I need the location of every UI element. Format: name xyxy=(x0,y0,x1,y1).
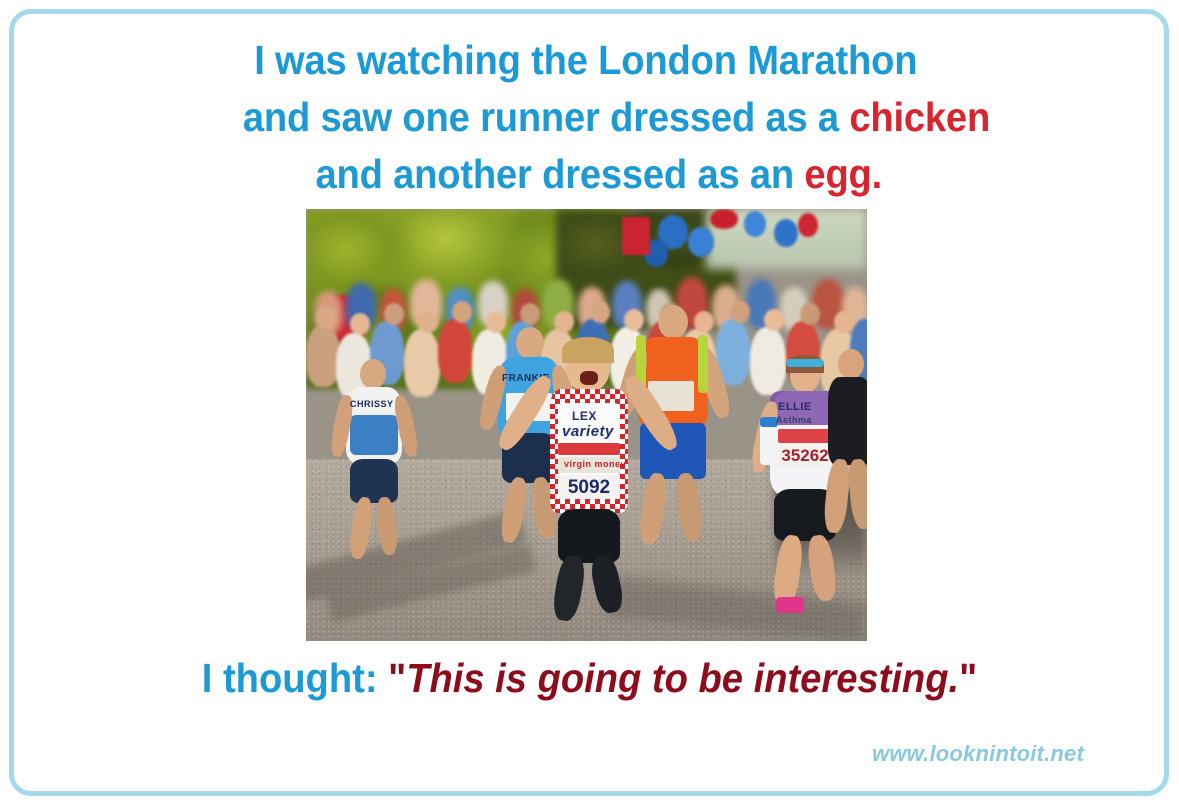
caption-line-1: I was watching the London Marathon xyxy=(41,32,1137,89)
top-caption-block: I was watching the London Marathon and s… xyxy=(0,32,1179,203)
backpack-strap-right xyxy=(698,335,708,393)
runner-far-right xyxy=(826,349,867,579)
runner-lex: LEX variety virgin money 5092 xyxy=(514,337,664,623)
close-quote-mark: " xyxy=(959,655,977,701)
runner-ellie-charity: Asthma xyxy=(776,415,812,425)
runner-lex-hair xyxy=(562,337,614,363)
caption-quote-text: This is going to be interesting. xyxy=(406,655,959,701)
runner-lex-leg-right xyxy=(588,553,625,615)
runner-chrissy-vest-name: CHRISSY xyxy=(350,399,394,409)
caption-line-3: and another dressed as an egg. xyxy=(41,146,1137,203)
marathon-photo: CHRISSY FRANKIE xyxy=(306,209,867,641)
caption-highlight-egg: egg. xyxy=(804,151,882,197)
runner-lex-shorts xyxy=(558,509,620,563)
runner-lex-mouth xyxy=(580,371,598,385)
runner-lex-charity-strip xyxy=(558,443,620,455)
caption-line-2: and saw one runner dressed as a chicken xyxy=(41,89,1137,146)
caption-lead-text: I thought: xyxy=(202,655,388,701)
runner-ellie-shoe-left xyxy=(776,597,804,613)
caption-line-3-text: and another dressed as an xyxy=(316,151,805,197)
caption-highlight-chicken: chicken xyxy=(849,94,990,140)
runner-lex-leg-left xyxy=(550,553,587,623)
runner-lex-vest-name: LEX xyxy=(572,409,597,423)
runner-ellie-vest-name: ELLIE xyxy=(778,401,812,413)
runner-lex-sponsor: virgin money xyxy=(564,459,626,469)
runner-lex-charity: variety xyxy=(562,423,614,440)
caption-line-1-text: I was watching the London Marathon xyxy=(254,37,917,83)
runner-lex-bib: 5092 xyxy=(558,475,620,499)
runner-ellie-headband xyxy=(786,359,824,367)
balloon-red-1 xyxy=(710,209,738,229)
open-quote-mark: " xyxy=(388,655,406,701)
caption-line-2-text: and saw one runner dressed as a xyxy=(243,94,849,140)
website-url[interactable]: www.looknintoit.net xyxy=(872,741,1084,767)
caption-line-4: I thought: "This is going to be interest… xyxy=(41,652,1137,704)
meme-slide: I was watching the London Marathon and s… xyxy=(0,0,1179,807)
bottom-caption-block: I thought: "This is going to be interest… xyxy=(0,652,1179,704)
runner-chrissy: CHRISSY xyxy=(328,359,420,569)
runner-ellie-sponsor-strip xyxy=(778,429,832,443)
